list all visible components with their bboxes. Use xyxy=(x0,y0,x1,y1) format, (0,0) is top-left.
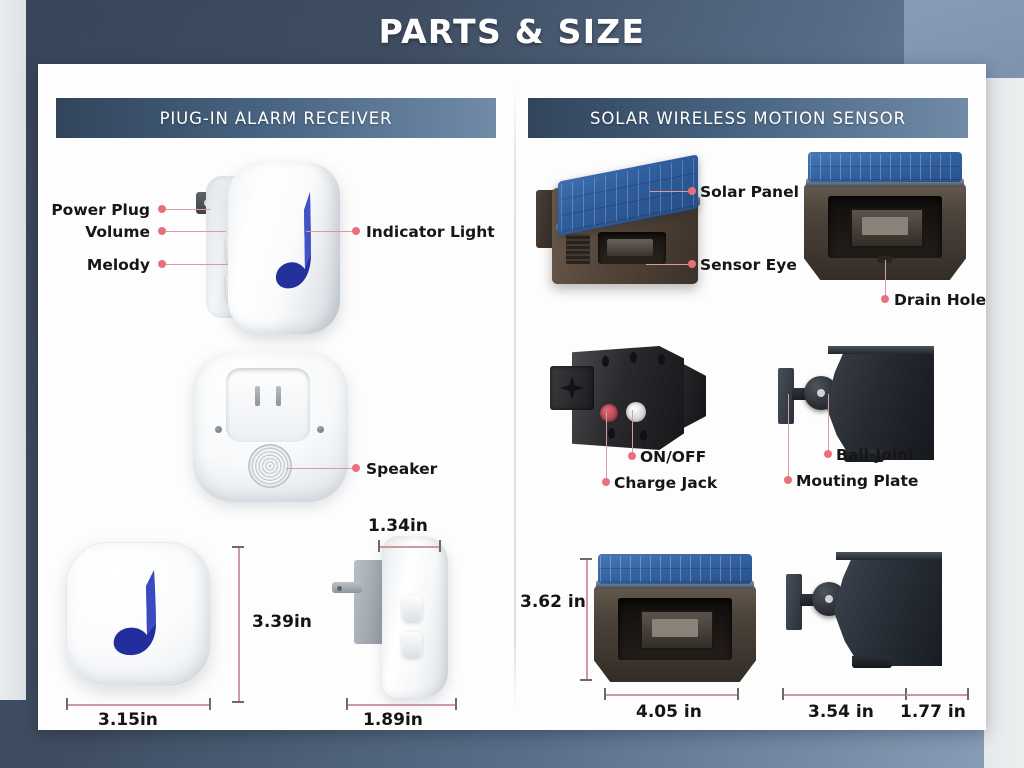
sensor-rear-bracket xyxy=(550,366,594,410)
callout-indicator-light-label: Indicator Light xyxy=(366,223,495,241)
dim-sensor-width-cap-right xyxy=(737,688,739,700)
callout-charge-jack-dot xyxy=(602,478,610,486)
callout-volume-label: Volume xyxy=(85,223,150,241)
dim-sensor-width-line xyxy=(604,694,738,696)
dim-sensor-bracket-depth: 1.77 in xyxy=(900,702,966,722)
sensor-screw-hole xyxy=(640,430,647,441)
dim-receiver-side-width: 1.34in xyxy=(368,516,428,536)
dim-sensor-depth-value: 3.54 in xyxy=(808,702,874,722)
section-header-receiver: PIUG-IN ALARM RECEIVER xyxy=(56,98,496,138)
callout-melody: Melody xyxy=(30,256,150,274)
dim-receiver-side-depth: 1.89in xyxy=(363,710,423,730)
sensor-front-lens xyxy=(640,610,714,650)
dim-receiver-side-depth-value: 1.89in xyxy=(363,710,423,730)
callout-charge-jack-line xyxy=(606,412,607,480)
dim-receiver-height-cap-bottom xyxy=(232,701,244,703)
dim-receiver-width-cap-right xyxy=(209,698,211,710)
receiver-screw-right xyxy=(317,426,324,433)
dim-sensor-height-cap-top xyxy=(580,558,592,560)
dim-sensor-width-value: 4.05 in xyxy=(636,702,702,722)
callout-charge-jack: Charge Jack xyxy=(614,474,717,492)
background-left-band xyxy=(0,0,26,700)
callout-solar-panel-label: Solar Panel xyxy=(700,183,799,201)
dim-sensor-bracket-depth-line xyxy=(906,694,968,696)
sensor-front-lens xyxy=(850,208,924,248)
dim-receiver-side-depth-line xyxy=(346,704,456,706)
dim-receiver-height-value: 3.39in xyxy=(252,612,312,632)
dim-sensor-depth: 3.54 in xyxy=(808,702,874,722)
sensor-side-view-dimensioned xyxy=(778,552,963,672)
callout-volume: Volume xyxy=(30,223,150,241)
infographic-canvas: PARTS & SIZE PIUG-IN ALARM RECEIVER SOLA… xyxy=(0,0,1024,768)
callout-speaker: Speaker xyxy=(366,460,437,478)
callout-on-off-line xyxy=(632,410,633,454)
callout-melody-line xyxy=(166,264,228,265)
callout-speaker-line xyxy=(286,468,354,469)
sensor-eye-lens xyxy=(598,232,666,264)
speaker-grille-icon xyxy=(248,444,292,488)
charge-jack-port xyxy=(600,404,618,422)
dim-sensor-depth-line xyxy=(782,694,906,696)
callout-sensor-eye: Sensor Eye xyxy=(700,256,797,274)
music-note-icon xyxy=(102,568,168,664)
background-right-band xyxy=(984,78,1024,768)
callout-indicator-light-dot xyxy=(352,227,360,235)
sensor-rear-view xyxy=(550,342,710,462)
music-note-icon xyxy=(270,188,318,300)
callout-drain-hole-label: Drain Hole xyxy=(894,291,986,309)
sensor-screw-hole xyxy=(658,354,665,365)
callout-mounting-plate-label: Mouting Plate xyxy=(796,472,918,490)
sensor-vent xyxy=(566,234,590,264)
dim-receiver-height-line xyxy=(238,546,240,702)
callout-mounting-plate-line xyxy=(788,394,789,478)
callout-solar-panel: Solar Panel xyxy=(700,183,799,201)
callout-power-plug-label: Power Plug xyxy=(51,201,150,219)
callout-solar-panel-dot xyxy=(688,187,696,195)
sensor-side-housing xyxy=(834,554,942,666)
callout-on-off-label: ON/OFF xyxy=(640,448,706,466)
callout-volume-line xyxy=(166,231,226,232)
callout-ball-joint-dot xyxy=(824,450,832,458)
callout-drain-hole-line xyxy=(885,260,886,298)
dim-sensor-height-value: 3.62 in xyxy=(520,592,586,612)
panel-divider xyxy=(514,86,516,710)
dim-receiver-side-width-cap-right xyxy=(439,540,441,552)
sensor-screw-hole xyxy=(608,428,615,439)
callout-power-plug-dot xyxy=(158,205,166,213)
section-header-sensor-label: SOLAR WIRELESS MOTION SENSOR xyxy=(590,109,906,128)
receiver-pin-right xyxy=(276,386,281,406)
callout-mounting-plate-dot xyxy=(784,476,792,484)
solar-panel-surface xyxy=(598,554,752,584)
page-title: PARTS & SIZE xyxy=(0,0,1024,62)
callout-charge-jack-label: Charge Jack xyxy=(614,474,717,492)
receiver-angled-view xyxy=(196,154,346,339)
dim-sensor-depth-cap-left xyxy=(782,688,784,700)
receiver-rear-view xyxy=(193,352,348,502)
callout-drain-hole-dot xyxy=(881,295,889,303)
callout-on-off-dot xyxy=(628,452,636,460)
sensor-screw-hole xyxy=(630,352,637,363)
on-off-switch xyxy=(626,402,646,422)
dim-receiver-width-value: 3.15in xyxy=(98,710,158,730)
sensor-angled-view xyxy=(536,162,711,297)
dim-sensor-bracket-depth-value: 1.77 in xyxy=(900,702,966,722)
callout-speaker-dot xyxy=(352,464,360,472)
callout-ball-joint: Ball-Joint xyxy=(836,446,916,464)
sensor-screw-hole xyxy=(602,356,609,367)
callout-power-plug-line xyxy=(166,209,210,210)
dim-receiver-height-cap-top xyxy=(232,546,244,548)
callout-indicator-light-line xyxy=(306,231,354,232)
callout-drain-hole: Drain Hole xyxy=(894,291,986,309)
callout-sensor-eye-label: Sensor Eye xyxy=(700,256,797,274)
receiver-side-volume-button xyxy=(402,596,422,622)
callout-melody-label: Melody xyxy=(87,256,150,274)
dim-receiver-side-depth-cap-left xyxy=(346,698,348,710)
callout-on-off: ON/OFF xyxy=(640,448,706,466)
dim-receiver-side-width-cap-left xyxy=(378,540,380,552)
receiver-side-melody-button xyxy=(402,632,422,658)
section-header-sensor: SOLAR WIRELESS MOTION SENSOR xyxy=(528,98,968,138)
callout-ball-joint-label: Ball-Joint xyxy=(836,446,916,464)
dim-sensor-width: 4.05 in xyxy=(636,702,702,722)
dim-receiver-height: 3.39in xyxy=(252,612,312,632)
dim-sensor-bracket-depth-cap-right xyxy=(967,688,969,700)
callout-sensor-eye-line xyxy=(646,264,690,265)
callout-volume-dot xyxy=(158,227,166,235)
dim-sensor-height: 3.62 in xyxy=(520,592,586,612)
solar-panel-surface xyxy=(808,152,962,182)
page-title-text: PARTS & SIZE xyxy=(379,12,646,51)
callout-sensor-eye-dot xyxy=(688,260,696,268)
receiver-side-view xyxy=(340,532,460,702)
dim-receiver-width-line xyxy=(66,704,210,706)
section-header-receiver-label: PIUG-IN ALARM RECEIVER xyxy=(160,109,393,128)
callout-ball-joint-line xyxy=(828,394,829,452)
receiver-front-view xyxy=(66,542,211,687)
dim-sensor-width-cap-left xyxy=(604,688,606,700)
receiver-pin-left xyxy=(255,386,260,406)
content-card: PIUG-IN ALARM RECEIVER SOLAR WIRELESS MO… xyxy=(38,64,986,730)
sensor-side-housing xyxy=(826,348,934,460)
sensor-side-roof-edge xyxy=(828,346,934,354)
sensor-side-foot xyxy=(852,656,892,668)
dim-receiver-side-width-line xyxy=(378,546,440,548)
dim-receiver-side-width-value: 1.34in xyxy=(368,516,428,536)
receiver-screw-left xyxy=(215,426,222,433)
dim-receiver-side-depth-cap-right xyxy=(455,698,457,710)
callout-mounting-plate: Mouting Plate xyxy=(796,472,918,490)
dim-sensor-height-line xyxy=(586,558,588,680)
receiver-plug-recess xyxy=(226,368,310,442)
callout-power-plug: Power Plug xyxy=(30,201,150,219)
dim-receiver-width: 3.15in xyxy=(98,710,158,730)
callout-indicator-light: Indicator Light xyxy=(366,223,495,241)
callout-melody-dot xyxy=(158,260,166,268)
callout-solar-panel-line xyxy=(650,191,690,192)
receiver-prong-icon xyxy=(332,582,362,593)
sensor-side-roof-edge xyxy=(836,552,942,560)
dim-sensor-height-cap-bottom xyxy=(580,679,592,681)
callout-speaker-label: Speaker xyxy=(366,460,437,478)
sensor-front-view-dimensioned xyxy=(590,554,742,680)
dim-receiver-width-cap-left xyxy=(66,698,68,710)
